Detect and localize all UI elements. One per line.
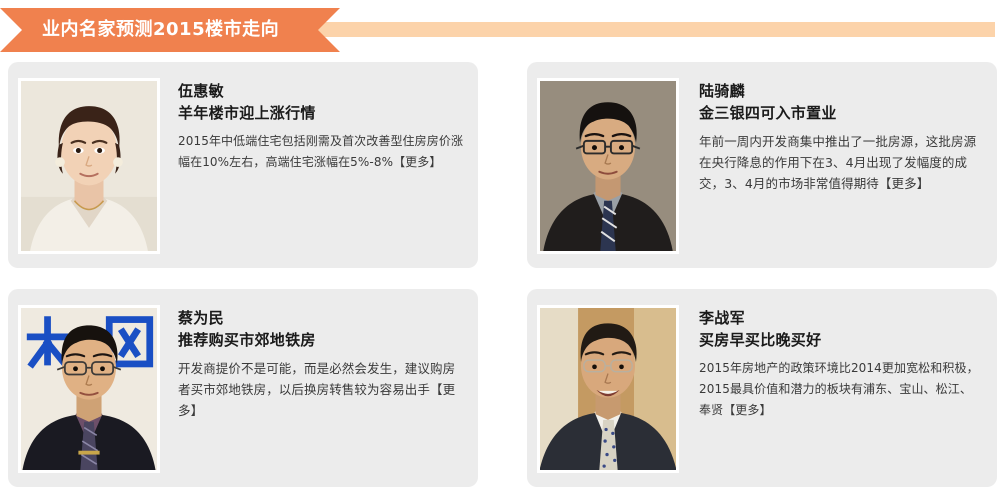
expert-headline: 买房早买比晚买好 (699, 329, 983, 352)
avatar (18, 305, 160, 473)
page-title: 业内名家预测2015楼市走向 (42, 8, 279, 52)
card-text-block: 李战军 买房早买比晚买好 2015年房地产的政策环境比2014更加宽松和积极，2… (699, 307, 983, 421)
avatar-image-cai-wei-min (21, 308, 157, 470)
expert-summary[interactable]: 2015年房地产的政策环境比2014更加宽松和积极，2015最具价值和潜力的板块… (699, 358, 983, 421)
expert-headline: 羊年楼市迎上涨行情 (178, 102, 464, 125)
section-header-banner: 业内名家预测2015楼市走向 (0, 8, 1004, 52)
card-text-block: 陆骑麟 金三银四可入市置业 年前一周内开发商集中推出了一批房源，这批房源在央行降… (699, 80, 983, 194)
expert-card[interactable]: 蔡为民 推荐购买市郊地铁房 开发商提价不是可能，而是必然会发生，建议购房者买市郊… (8, 289, 478, 487)
expert-name: 伍惠敏 (178, 80, 464, 102)
avatar-image-wu-hui-min (21, 81, 157, 251)
card-text-block: 伍惠敏 羊年楼市迎上涨行情 2015年中低端住宅包括刚需及首次改善型住房房价涨幅… (178, 80, 464, 173)
page-root: 业内名家预测2015楼市走向 (0, 0, 1004, 496)
expert-summary[interactable]: 年前一周内开发商集中推出了一批房源，这批房源在央行降息的作用下在3、4月出现了发… (699, 131, 983, 194)
avatar (537, 305, 679, 473)
card-text-block: 蔡为民 推荐购买市郊地铁房 开发商提价不是可能，而是必然会发生，建议购房者买市郊… (178, 307, 464, 421)
expert-name: 李战军 (699, 307, 983, 329)
avatar (537, 78, 679, 254)
expert-summary[interactable]: 2015年中低端住宅包括刚需及首次改善型住房房价涨幅在10%左右，高端住宅涨幅在… (178, 131, 464, 173)
expert-headline: 金三银四可入市置业 (699, 102, 983, 125)
banner-tail-bar (300, 22, 995, 37)
avatar (18, 78, 160, 254)
expert-summary[interactable]: 开发商提价不是可能，而是必然会发生，建议购房者买市郊地铁房，以后换房转售较为容易… (178, 358, 464, 421)
expert-card[interactable]: 伍惠敏 羊年楼市迎上涨行情 2015年中低端住宅包括刚需及首次改善型住房房价涨幅… (8, 62, 478, 268)
avatar-image-lu-qi-lin (540, 81, 676, 251)
expert-card[interactable]: 陆骑麟 金三银四可入市置业 年前一周内开发商集中推出了一批房源，这批房源在央行降… (527, 62, 997, 268)
avatar-image-li-zhan-jun (540, 308, 676, 470)
expert-card[interactable]: 李战军 买房早买比晚买好 2015年房地产的政策环境比2014更加宽松和积极，2… (527, 289, 997, 487)
expert-name: 蔡为民 (178, 307, 464, 329)
expert-headline: 推荐购买市郊地铁房 (178, 329, 464, 352)
expert-name: 陆骑麟 (699, 80, 983, 102)
